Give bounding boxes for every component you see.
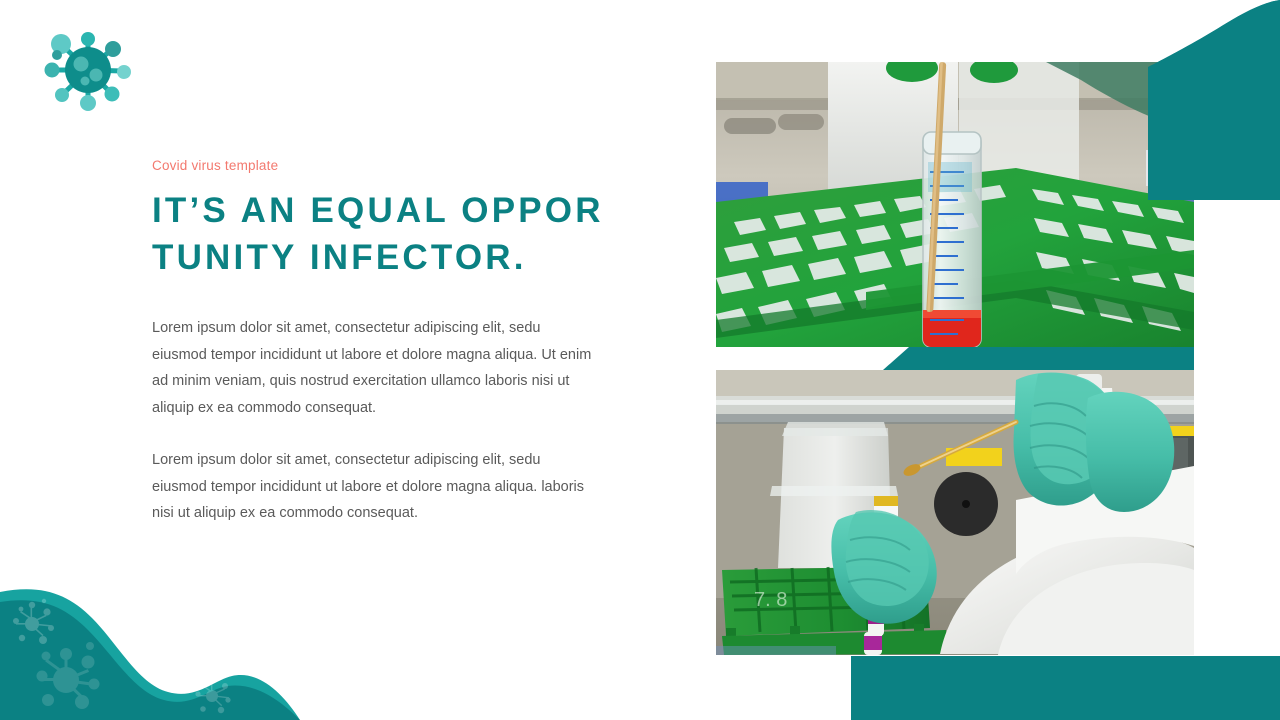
slide-canvas: Covid virus template IT’S AN EQUAL OPPOR… (0, 0, 1280, 720)
eyebrow-label: Covid virus template (152, 158, 622, 173)
svg-text:7. 8: 7. 8 (754, 589, 787, 611)
slide-text-column: Covid virus template IT’S AN EQUAL OPPOR… (152, 158, 622, 527)
lab-technician-biosafety-cabinet-photo: 7. 8 (716, 370, 1194, 655)
covid-virus-logo-icon (38, 25, 138, 115)
body-paragraph-1: Lorem ipsum dolor sit amet, consectetur … (152, 315, 592, 421)
teal-band-between-photos (883, 347, 1194, 370)
teal-wave-bottom-left (0, 580, 300, 720)
page-title: IT’S AN EQUAL OPPOR TUNITY INFECTOR. (152, 187, 622, 281)
lab-test-tube-rack-photo (716, 62, 1194, 347)
teal-rectangle-bottom-right (851, 656, 1280, 720)
body-paragraph-2: Lorem ipsum dolor sit amet, consectetur … (152, 447, 592, 527)
